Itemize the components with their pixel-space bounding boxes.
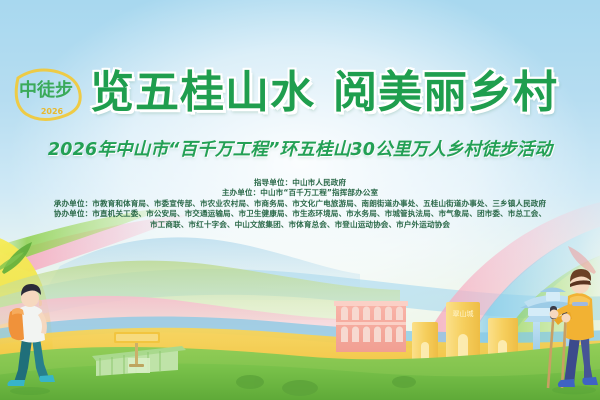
hiker-with-trekking-poles: [540, 262, 600, 396]
organizer-line: 协办单位：市直机关工委、市公安局、市交通运输局、市卫生健康局、市生态环境局、市水…: [0, 209, 600, 219]
page-title: 览五桂山水阅美丽乡村: [90, 71, 558, 115]
title-row: 中徒步 2026 览五桂山水阅美丽乡村: [0, 62, 600, 124]
event-subtitle: 2026年中山市“百千万工程”环五桂山30公里万人乡村徒步活动: [0, 136, 600, 161]
title-part-2: 阅美丽乡村: [333, 67, 558, 118]
logo-year: 2026: [41, 107, 64, 116]
leaf-sprig-left: [0, 236, 46, 276]
organizer-line: 市工商联、市红十字会、中山文旅集团、市体育总会、市登山运动协会、市户外运动协会: [0, 220, 600, 230]
leaf-sprig-right: [558, 242, 598, 276]
zhongshan-hiking-logo-icon: 中徒步 2026: [12, 64, 84, 122]
organizer-line: 主办单位：中山市“百千万工程”指挥部办公室: [0, 188, 600, 198]
organizer-line: 承办单位：市教育和体育局、市委宣传部、市农业农村局、市商务局、市文化广电旅游局、…: [0, 199, 600, 209]
poster-canvas: 翠山城: [0, 0, 600, 400]
hiker-with-backpack: [2, 278, 58, 396]
title-part-1: 览五桂山水: [90, 67, 315, 118]
colonial-arcade-building: [334, 301, 408, 352]
logo-text: 中徒步: [19, 79, 73, 101]
organizer-line: 指导单位：中山市人民政府: [0, 178, 600, 188]
organizer-block: 指导单位：中山市人民政府 主办单位：中山市“百千万工程”指挥部办公室 承办单位：…: [0, 178, 600, 230]
gold-building-label: 翠山城: [453, 309, 474, 318]
